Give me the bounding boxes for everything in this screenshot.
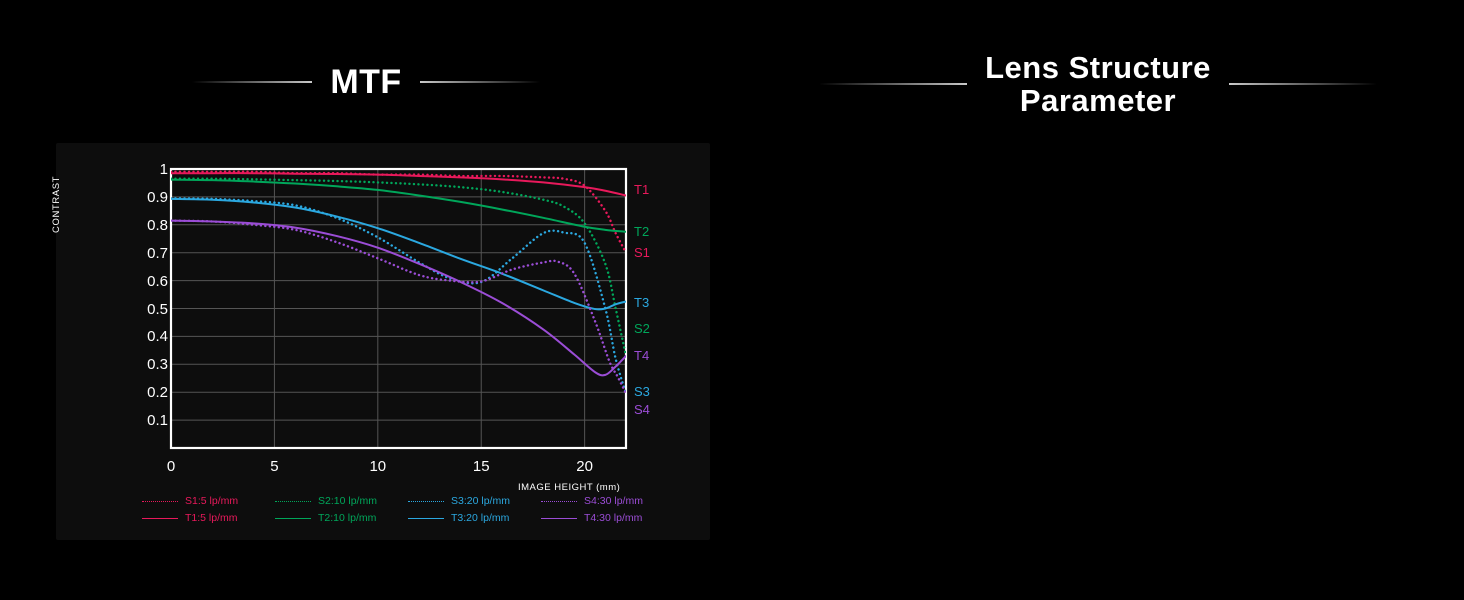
curve-label-t3: T3 <box>634 296 649 309</box>
legend-row: S1:5 lp/mmS2:10 lp/mmS3:20 lp/mmS4:30 lp… <box>142 495 710 507</box>
legend-item: S2:10 lp/mm <box>275 495 408 507</box>
legend-label: S1:5 lp/mm <box>185 495 238 507</box>
mtf-chart: CONTRAST 10.90.80.70.60.50.40.30.20.1 05… <box>56 143 710 540</box>
legend-item: S4:30 lp/mm <box>541 495 674 507</box>
mtf-plot-svg <box>56 143 710 540</box>
legend-label: T3:20 lp/mm <box>451 512 509 524</box>
curve-label-t4: T4 <box>634 349 649 362</box>
legend-item: T3:20 lp/mm <box>408 512 541 524</box>
mtf-panel: CONTRAST 10.90.80.70.60.50.40.30.20.1 05… <box>56 143 710 540</box>
curve-label-s1: S1 <box>634 246 650 259</box>
legend-row: T1:5 lp/mmT2:10 lp/mmT3:20 lp/mmT4:30 lp… <box>142 512 710 524</box>
legend-label: S2:10 lp/mm <box>318 495 377 507</box>
legend-label: T4:30 lp/mm <box>584 512 642 524</box>
mtf-legend: S1:5 lp/mmS2:10 lp/mmS3:20 lp/mmS4:30 lp… <box>56 495 710 524</box>
legend-item: T2:10 lp/mm <box>275 512 408 524</box>
mtf-section: MTF CONTRAST 10.90.80.70.60.50.40.30.20.… <box>0 0 732 600</box>
legend-item: T1:5 lp/mm <box>142 512 275 524</box>
legend-label: S3:20 lp/mm <box>451 495 510 507</box>
legend-item: S3:20 lp/mm <box>408 495 541 507</box>
legend-label: T2:10 lp/mm <box>318 512 376 524</box>
grid-lines <box>171 169 626 448</box>
title-rule-right <box>420 81 540 83</box>
curve-label-t2: T2 <box>634 225 649 238</box>
legend-item: S1:5 lp/mm <box>142 495 275 507</box>
curve-label-t1: T1 <box>634 183 649 196</box>
legend-line-icon <box>142 501 178 502</box>
legend-label: T1:5 lp/mm <box>185 512 238 524</box>
legend-line-icon <box>408 501 444 502</box>
legend-line-icon <box>275 501 311 502</box>
lens-title-rule-right <box>1229 83 1377 85</box>
legend-line-icon <box>541 518 577 519</box>
title-rule-left <box>192 81 312 83</box>
data-series-group <box>171 172 626 394</box>
mtf-title-row: MTF <box>0 52 732 112</box>
series-t4 <box>171 221 626 376</box>
lens-title-row: Lens Structure Parameter <box>732 44 1464 124</box>
lens-title-rule-left <box>819 83 967 85</box>
legend-line-icon <box>142 518 178 519</box>
curve-label-s2: S2 <box>634 322 650 335</box>
legend-item: T4:30 lp/mm <box>541 512 674 524</box>
lens-section: Lens Structure Parameter <box>732 0 1464 600</box>
legend-label: S4:30 lp/mm <box>584 495 643 507</box>
legend-line-icon <box>541 501 577 502</box>
legend-line-icon <box>275 518 311 519</box>
curve-label-s4: S4 <box>634 403 650 416</box>
legend-line-icon <box>408 518 444 519</box>
mtf-title: MTF <box>330 64 401 101</box>
page-root: MTF CONTRAST 10.90.80.70.60.50.40.30.20.… <box>0 0 1464 600</box>
lens-title: Lens Structure Parameter <box>985 51 1211 118</box>
curve-label-s3: S3 <box>634 385 650 398</box>
series-t3 <box>171 199 626 310</box>
series-s4 <box>171 221 626 394</box>
